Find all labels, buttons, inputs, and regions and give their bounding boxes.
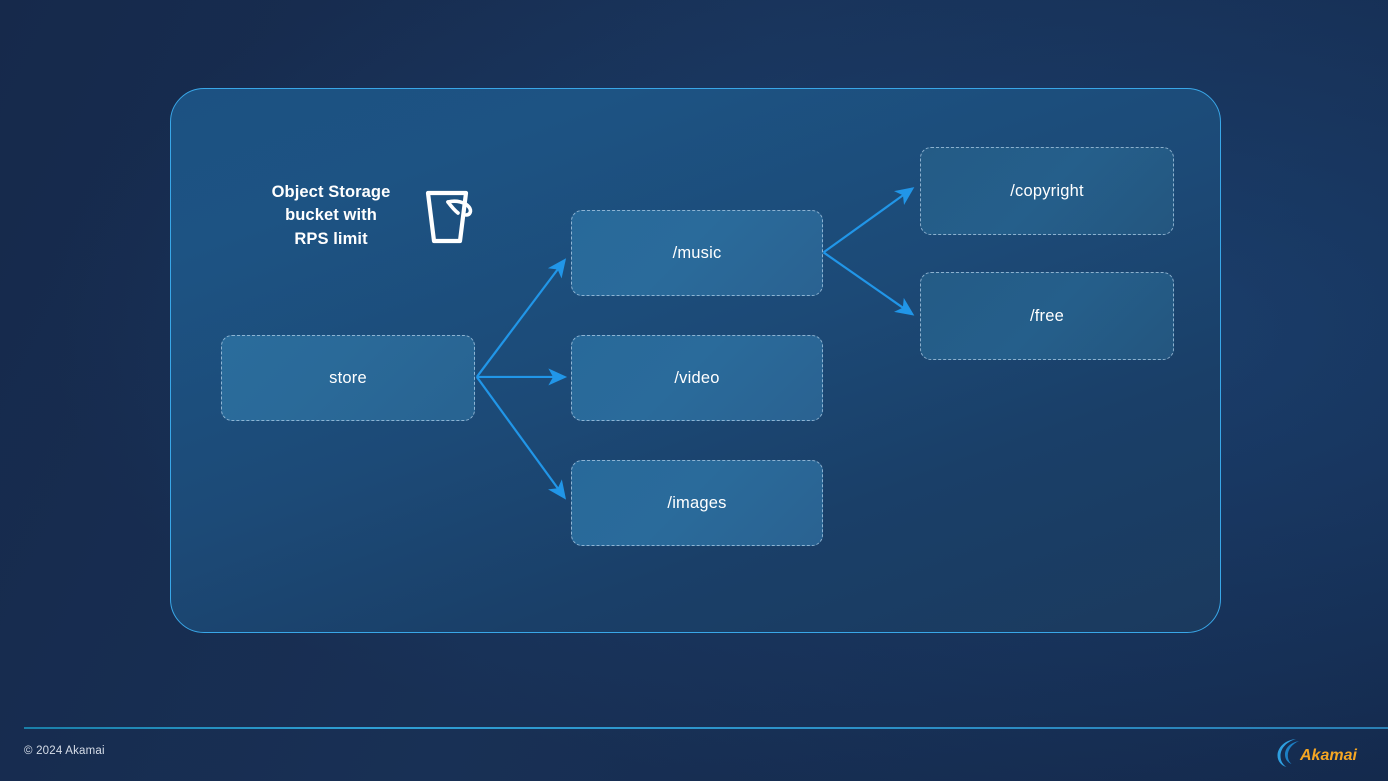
- akamai-logo: Akamai: [1274, 735, 1372, 769]
- bucket-label-line-2: bucket with: [256, 204, 406, 227]
- akamai-logo-text: Akamai: [1299, 747, 1357, 764]
- edge-store-images: [477, 377, 565, 498]
- footer-copyright: © 2024 Akamai: [24, 745, 105, 757]
- node-store-label: store: [329, 369, 367, 388]
- node-store[interactable]: store: [221, 335, 475, 421]
- node-copyright-label: /copyright: [1010, 182, 1084, 201]
- node-music[interactable]: /music: [571, 210, 823, 296]
- slide-canvas: Object Storage bucket with RPS limit sto…: [0, 0, 1388, 781]
- bucket-label-line-3: RPS limit: [256, 228, 406, 251]
- node-video-label: /video: [674, 369, 719, 388]
- footer-divider: [24, 727, 1388, 729]
- edge-store-music: [477, 260, 565, 377]
- bucket-label-line-1: Object Storage: [256, 181, 406, 204]
- bucket-label: Object Storage bucket with RPS limit: [256, 181, 406, 251]
- node-free-label: /free: [1030, 307, 1064, 326]
- node-video[interactable]: /video: [571, 335, 823, 421]
- node-images[interactable]: /images: [571, 460, 823, 546]
- diagram-container: Object Storage bucket with RPS limit sto…: [170, 88, 1221, 633]
- edge-music-copyright: [824, 189, 913, 253]
- node-music-label: /music: [673, 244, 722, 263]
- bucket-caption: Object Storage bucket with RPS limit: [256, 181, 480, 251]
- node-copyright[interactable]: /copyright: [920, 147, 1174, 235]
- node-free[interactable]: /free: [920, 272, 1174, 360]
- bucket-icon: [422, 185, 480, 247]
- node-images-label: /images: [667, 494, 726, 513]
- edge-music-free: [824, 252, 913, 314]
